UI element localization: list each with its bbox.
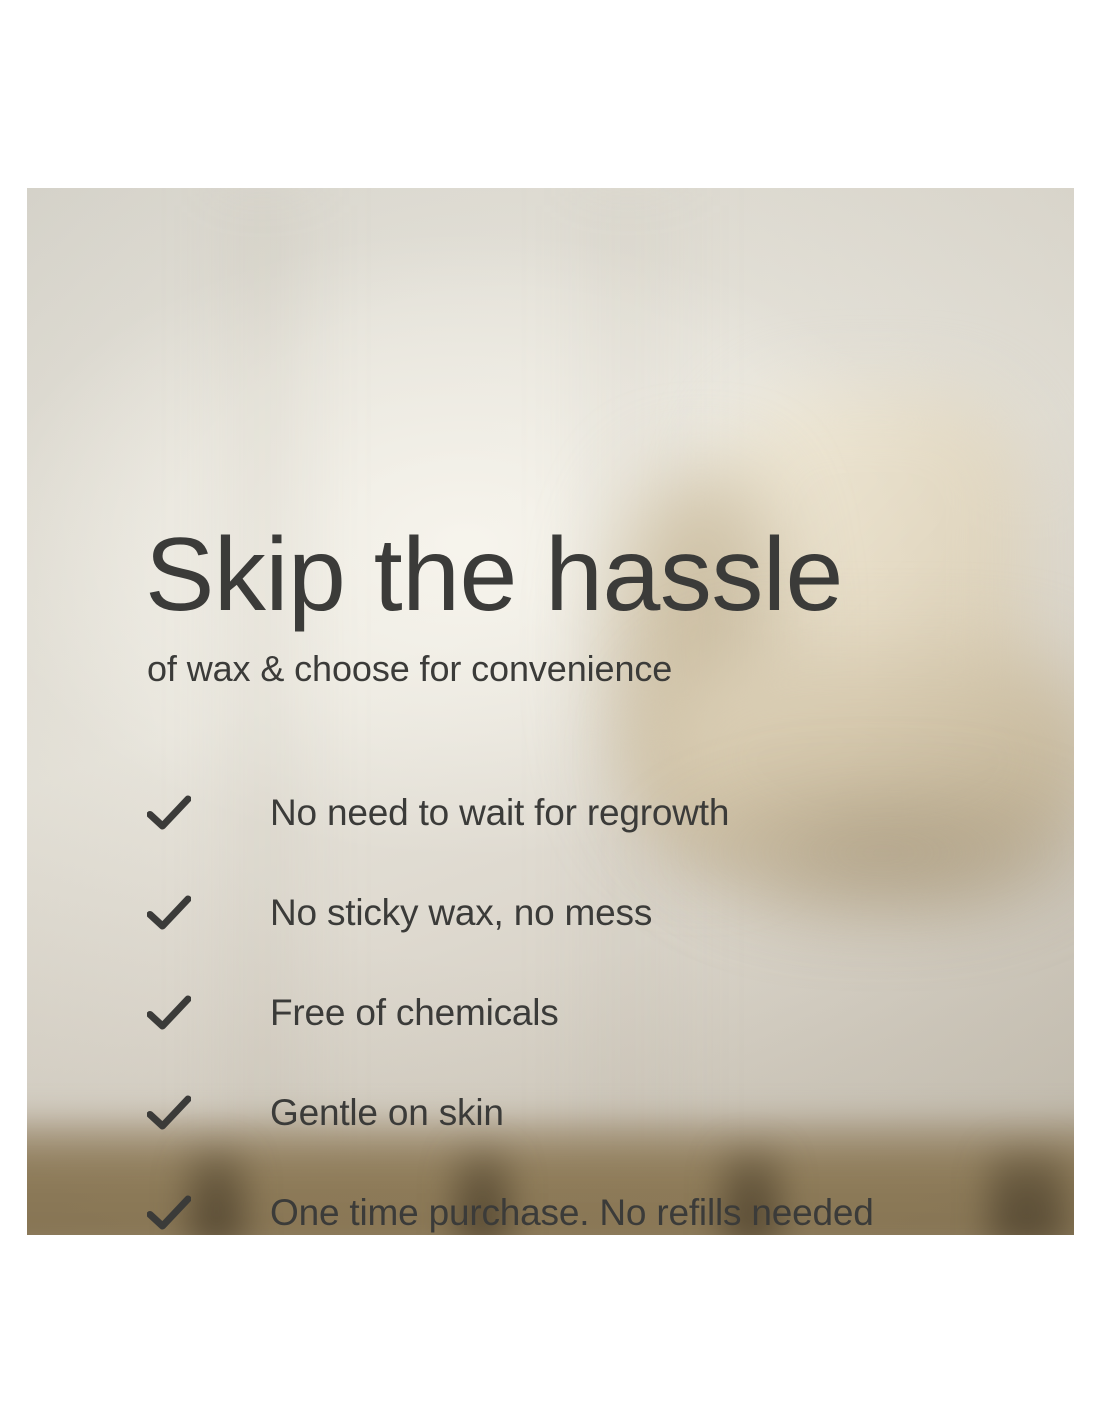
- benefit-list-item: Free of chemicals: [145, 963, 1025, 1063]
- benefit-list-item: One time purchase. No refills needed: [145, 1163, 1025, 1235]
- checkmark-icon: [147, 995, 191, 1031]
- checkmark-icon: [147, 1095, 191, 1131]
- benefit-list: No need to wait for regrowth No sticky w…: [145, 763, 1025, 1235]
- page-canvas: Skip the hassle of wax & choose for conv…: [0, 0, 1100, 1422]
- benefit-list-item: No sticky wax, no mess: [145, 863, 1025, 963]
- checkmark-icon: [147, 795, 191, 831]
- benefit-label: No need to wait for regrowth: [270, 792, 729, 834]
- headline: Skip the hassle: [145, 521, 843, 629]
- benefit-label: No sticky wax, no mess: [270, 892, 652, 934]
- checkmark-icon: [147, 895, 191, 931]
- benefit-label: One time purchase. No refills needed: [270, 1192, 874, 1234]
- promo-image-card: Skip the hassle of wax & choose for conv…: [27, 188, 1074, 1235]
- benefit-list-item: Gentle on skin: [145, 1063, 1025, 1163]
- subheadline: of wax & choose for convenience: [147, 647, 672, 690]
- benefit-list-item: No need to wait for regrowth: [145, 763, 1025, 863]
- text-overlay: Skip the hassle of wax & choose for conv…: [27, 188, 1074, 1235]
- benefit-label: Gentle on skin: [270, 1092, 504, 1134]
- benefit-label: Free of chemicals: [270, 992, 559, 1034]
- checkmark-icon: [147, 1195, 191, 1231]
